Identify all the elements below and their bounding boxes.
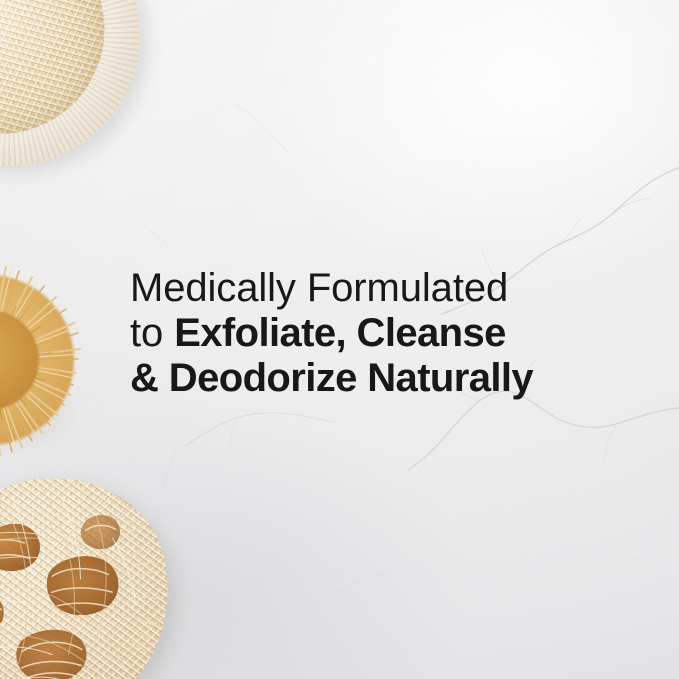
- headline-line-3-text: & Deodorize Naturally: [130, 356, 533, 400]
- headline-line-1: Medically Formulated: [130, 268, 600, 308]
- loofah-sponge-cavities: [0, 467, 180, 679]
- headline-line-3: & Deodorize Naturally: [130, 358, 600, 398]
- headline-block: Medically Formulated to Exfoliate, Clean…: [130, 268, 600, 398]
- loofah-sponge-body: [0, 467, 180, 679]
- headline-line-2: to Exfoliate, Cleanse: [130, 313, 600, 353]
- headline-line-1-text: Medically Formulated: [130, 266, 508, 310]
- bristle-brush-prop: [0, 263, 86, 457]
- headline-line-2-bold: Exfoliate, Cleanse: [174, 311, 506, 355]
- headline-line-2-regular: to: [130, 311, 174, 355]
- loofah-sponge-prop: [0, 467, 180, 679]
- product-banner: Medically Formulated to Exfoliate, Clean…: [0, 0, 679, 679]
